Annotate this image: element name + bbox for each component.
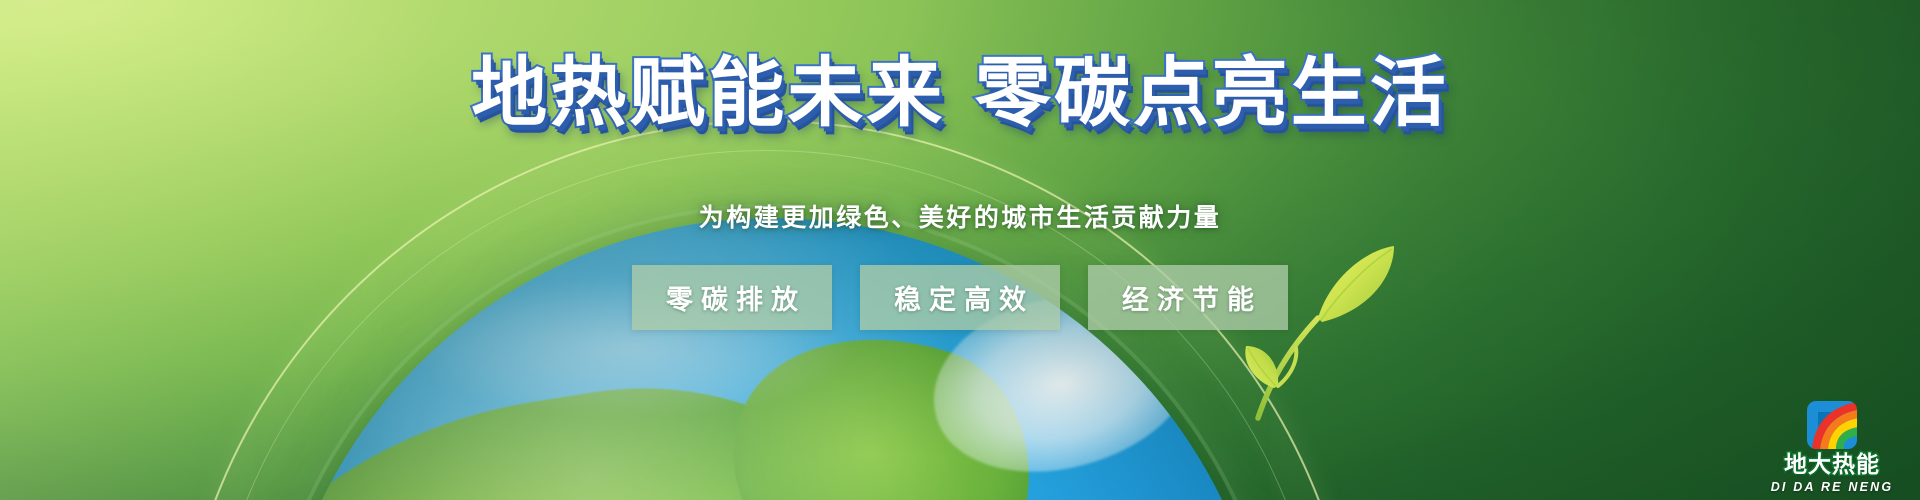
badge-zero-carbon[interactable]: 零碳排放 xyxy=(632,265,832,330)
page-title: 地热赋能未来 零碳点亮生活 xyxy=(0,52,1920,134)
logo-name-cn: 地大热能 xyxy=(1784,453,1880,477)
globe-shading-overlay xyxy=(272,218,1272,500)
company-logo[interactable]: 地大热能 DI DA RE NENG xyxy=(1762,400,1902,494)
earth-globe-image xyxy=(272,218,1272,500)
badge-economic-saving[interactable]: 经济节能 xyxy=(1088,265,1288,330)
badge-stable-efficient[interactable]: 稳定高效 xyxy=(860,265,1060,330)
promo-banner: 地热赋能未来 零碳点亮生活 为构建更加绿色、美好的城市生活贡献力量 零碳排放 稳… xyxy=(0,0,1920,500)
logo-name-en: DI DA RE NENG xyxy=(1771,480,1894,494)
subtitle-text: 为构建更加绿色、美好的城市生活贡献力量 xyxy=(0,198,1920,234)
rainbow-arc-in-rounded-square-logo-icon xyxy=(1806,400,1858,450)
feature-badge-group: 零碳排放 稳定高效 经济节能 xyxy=(0,265,1920,330)
